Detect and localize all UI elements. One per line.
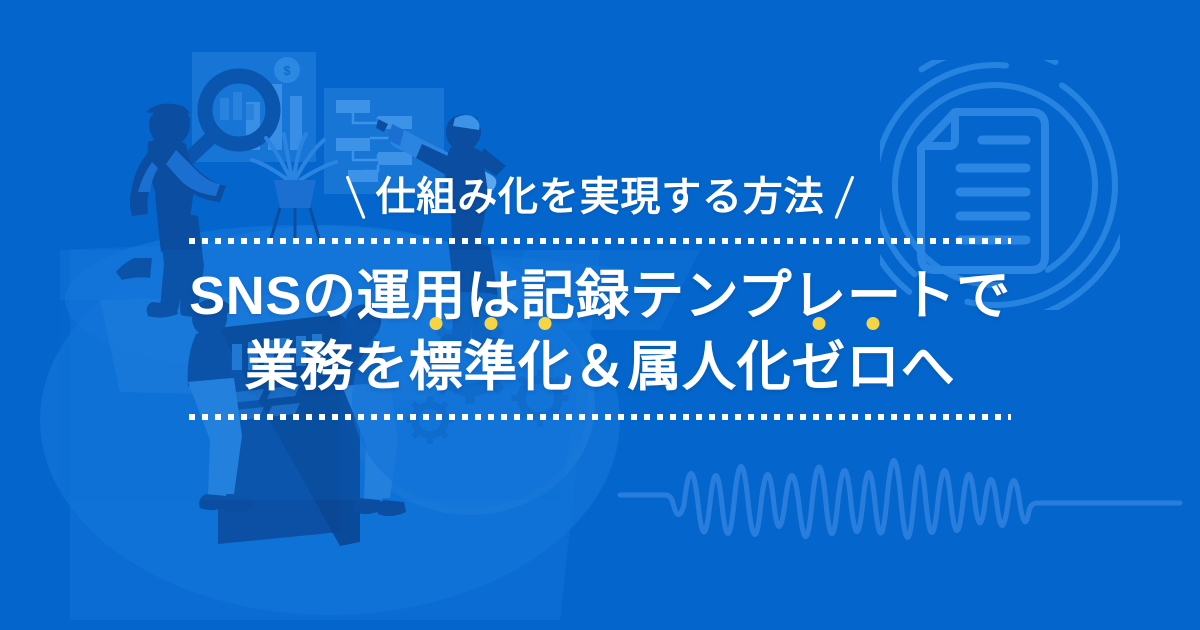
headline-seg: へ bbox=[901, 337, 956, 397]
divider-bottom bbox=[189, 414, 1011, 420]
headline-line-2: 業務を標準化＆属人化ゼロへ bbox=[189, 333, 1011, 402]
hero-text-block: 仕組み化を実現する方法 SNSの運用は記録テンプレートで 業務を標準化＆属人化ゼ… bbox=[0, 168, 1200, 420]
headline-seg: ＆属人化 bbox=[573, 337, 792, 397]
kicker-line: 仕組み化を実現する方法 bbox=[332, 168, 869, 226]
dollar-coin-icon: $ bbox=[283, 63, 291, 78]
eyecatch-canvas: $ bbox=[0, 0, 1200, 630]
divider-top bbox=[189, 238, 1011, 244]
headline-seg-emphasis: 標 bbox=[409, 333, 464, 402]
kicker-text: 仕組み化を実現する方法 bbox=[376, 177, 825, 217]
headline-seg-emphasis: ゼ bbox=[791, 333, 846, 402]
slash-right-icon bbox=[838, 174, 868, 220]
headline: SNSの運用は記録テンプレートで 業務を標準化＆属人化ゼロへ bbox=[189, 262, 1011, 401]
slash-left-icon bbox=[332, 174, 362, 220]
headline-seg: 業務を bbox=[245, 337, 409, 397]
headline-seg-emphasis: 化 bbox=[518, 333, 573, 402]
headline-seg-emphasis: ロ bbox=[846, 333, 901, 402]
headline-line-1: SNSの運用は記録テンプレートで bbox=[189, 262, 1011, 331]
headline-seg-emphasis: 準 bbox=[463, 333, 518, 402]
